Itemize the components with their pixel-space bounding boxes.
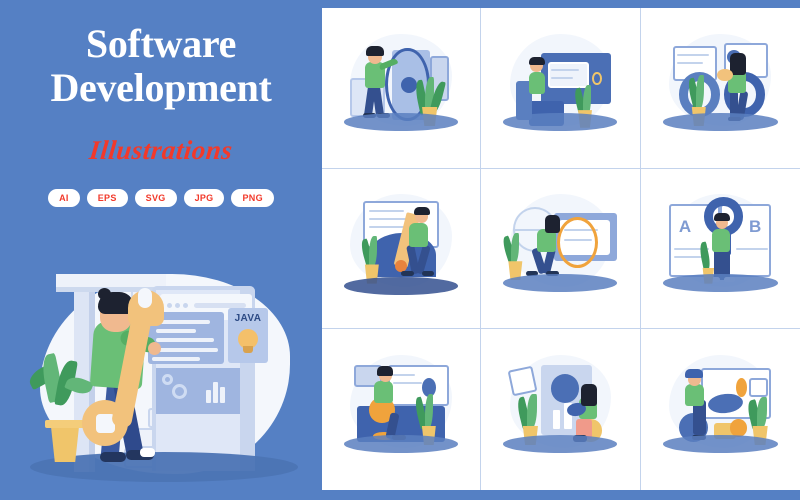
floor-shadow bbox=[503, 435, 617, 453]
code-line bbox=[152, 357, 200, 361]
magnifier-icon bbox=[557, 217, 598, 268]
figure-hair-bun bbox=[98, 288, 111, 300]
figure-hair bbox=[581, 384, 597, 406]
scene bbox=[322, 329, 480, 490]
illustration-devops-infinity[interactable] bbox=[641, 8, 800, 169]
gear-icon bbox=[162, 374, 173, 385]
wrench-notch bbox=[138, 288, 152, 308]
code-line bbox=[551, 77, 573, 79]
illustration-secure-development[interactable] bbox=[322, 8, 481, 169]
scene bbox=[322, 169, 480, 329]
hero-illustration: JAVA bbox=[0, 250, 322, 500]
illustration-grid-panel: A B bbox=[322, 8, 800, 490]
figure-torso bbox=[374, 381, 393, 403]
figure-shoe bbox=[100, 452, 126, 462]
chart-bar bbox=[553, 410, 561, 429]
chart-bar bbox=[220, 387, 225, 403]
figure-torso bbox=[712, 229, 730, 251]
figure-shoe bbox=[401, 271, 414, 276]
floor-shadow bbox=[663, 435, 778, 453]
format-badge-ai[interactable]: AI bbox=[48, 189, 80, 207]
illustration-ui-design-pencil[interactable] bbox=[322, 169, 481, 330]
illustration-ab-testing[interactable]: A B bbox=[641, 169, 800, 330]
scene bbox=[641, 329, 800, 490]
format-badge-eps[interactable]: EPS bbox=[87, 189, 128, 207]
figure-hair bbox=[545, 215, 561, 233]
figure-shoe bbox=[422, 271, 435, 276]
scene: A B bbox=[641, 169, 800, 329]
illustration-code-review-search[interactable] bbox=[481, 169, 640, 330]
figure-shoe-highlight bbox=[140, 448, 155, 457]
format-badge-jpg[interactable]: JPG bbox=[184, 189, 225, 207]
title-line-1: Software bbox=[0, 22, 322, 66]
floor-shadow bbox=[344, 435, 458, 453]
code-line bbox=[156, 338, 214, 342]
plant-pot-rim bbox=[45, 420, 85, 428]
code-line bbox=[551, 69, 579, 71]
chart-bar bbox=[206, 390, 211, 403]
java-label: JAVA bbox=[228, 313, 268, 324]
scene bbox=[481, 169, 639, 329]
illustration-data-analytics[interactable] bbox=[481, 329, 640, 490]
format-badge-list: AI EPS SVG JPG PNG bbox=[0, 189, 322, 207]
board-line bbox=[369, 210, 404, 212]
figure-hair bbox=[366, 46, 383, 56]
illustration-software-monetization[interactable] bbox=[641, 329, 800, 490]
page-title: Software Development bbox=[0, 22, 322, 110]
figure-hair bbox=[714, 213, 730, 221]
monitor-window bbox=[548, 62, 589, 88]
plant-leaf bbox=[757, 397, 767, 429]
browser-dot-green bbox=[183, 303, 188, 308]
browser-dot-red bbox=[167, 303, 172, 308]
floor-shadow bbox=[344, 113, 458, 131]
code-line bbox=[156, 320, 210, 324]
illustration-grid: A B bbox=[322, 8, 800, 490]
illustration-bug-fixing[interactable] bbox=[322, 329, 481, 490]
code-line bbox=[393, 374, 415, 376]
figure-torso bbox=[537, 229, 556, 251]
subtitle-illustrations: Illustrations bbox=[0, 135, 324, 166]
gear-icon bbox=[592, 72, 601, 85]
floor-shadow bbox=[503, 113, 617, 131]
figure-torso bbox=[409, 223, 428, 247]
code-line bbox=[156, 329, 196, 333]
left-hero-panel: Software Development Illustrations AI EP… bbox=[0, 0, 322, 500]
floor-shadow bbox=[663, 113, 778, 131]
lightbulb-base bbox=[243, 346, 253, 353]
letter-a: A bbox=[679, 217, 691, 237]
document-line bbox=[677, 62, 702, 64]
vault-lock-icon bbox=[401, 77, 417, 93]
figure-torso bbox=[529, 72, 545, 94]
floating-paper bbox=[507, 366, 537, 396]
figure-hair bbox=[529, 57, 545, 65]
format-badge-png[interactable]: PNG bbox=[231, 189, 273, 207]
gear-icon bbox=[172, 384, 187, 399]
title-line-2: Development bbox=[0, 66, 322, 110]
crane-arm bbox=[56, 274, 166, 287]
code-line bbox=[152, 348, 218, 352]
figure-hair bbox=[377, 366, 393, 376]
letter-b: B bbox=[749, 217, 761, 237]
scene bbox=[322, 8, 480, 168]
browser-dot-yellow bbox=[175, 303, 180, 308]
figure-torso bbox=[685, 384, 704, 406]
scene bbox=[641, 8, 800, 168]
screen-window bbox=[749, 378, 768, 397]
illustration-coding-workstation[interactable] bbox=[481, 8, 640, 169]
document-line bbox=[677, 54, 709, 56]
floor-shadow bbox=[344, 277, 458, 295]
chart-bar bbox=[213, 382, 218, 403]
scene bbox=[481, 8, 639, 168]
figure-hair bbox=[414, 207, 430, 215]
figure-cap bbox=[685, 369, 703, 377]
figure-hand bbox=[148, 342, 161, 355]
scene bbox=[481, 329, 639, 490]
floor-shadow bbox=[503, 274, 617, 292]
format-badge-svg[interactable]: SVG bbox=[135, 189, 177, 207]
floor-shadow bbox=[663, 274, 778, 292]
